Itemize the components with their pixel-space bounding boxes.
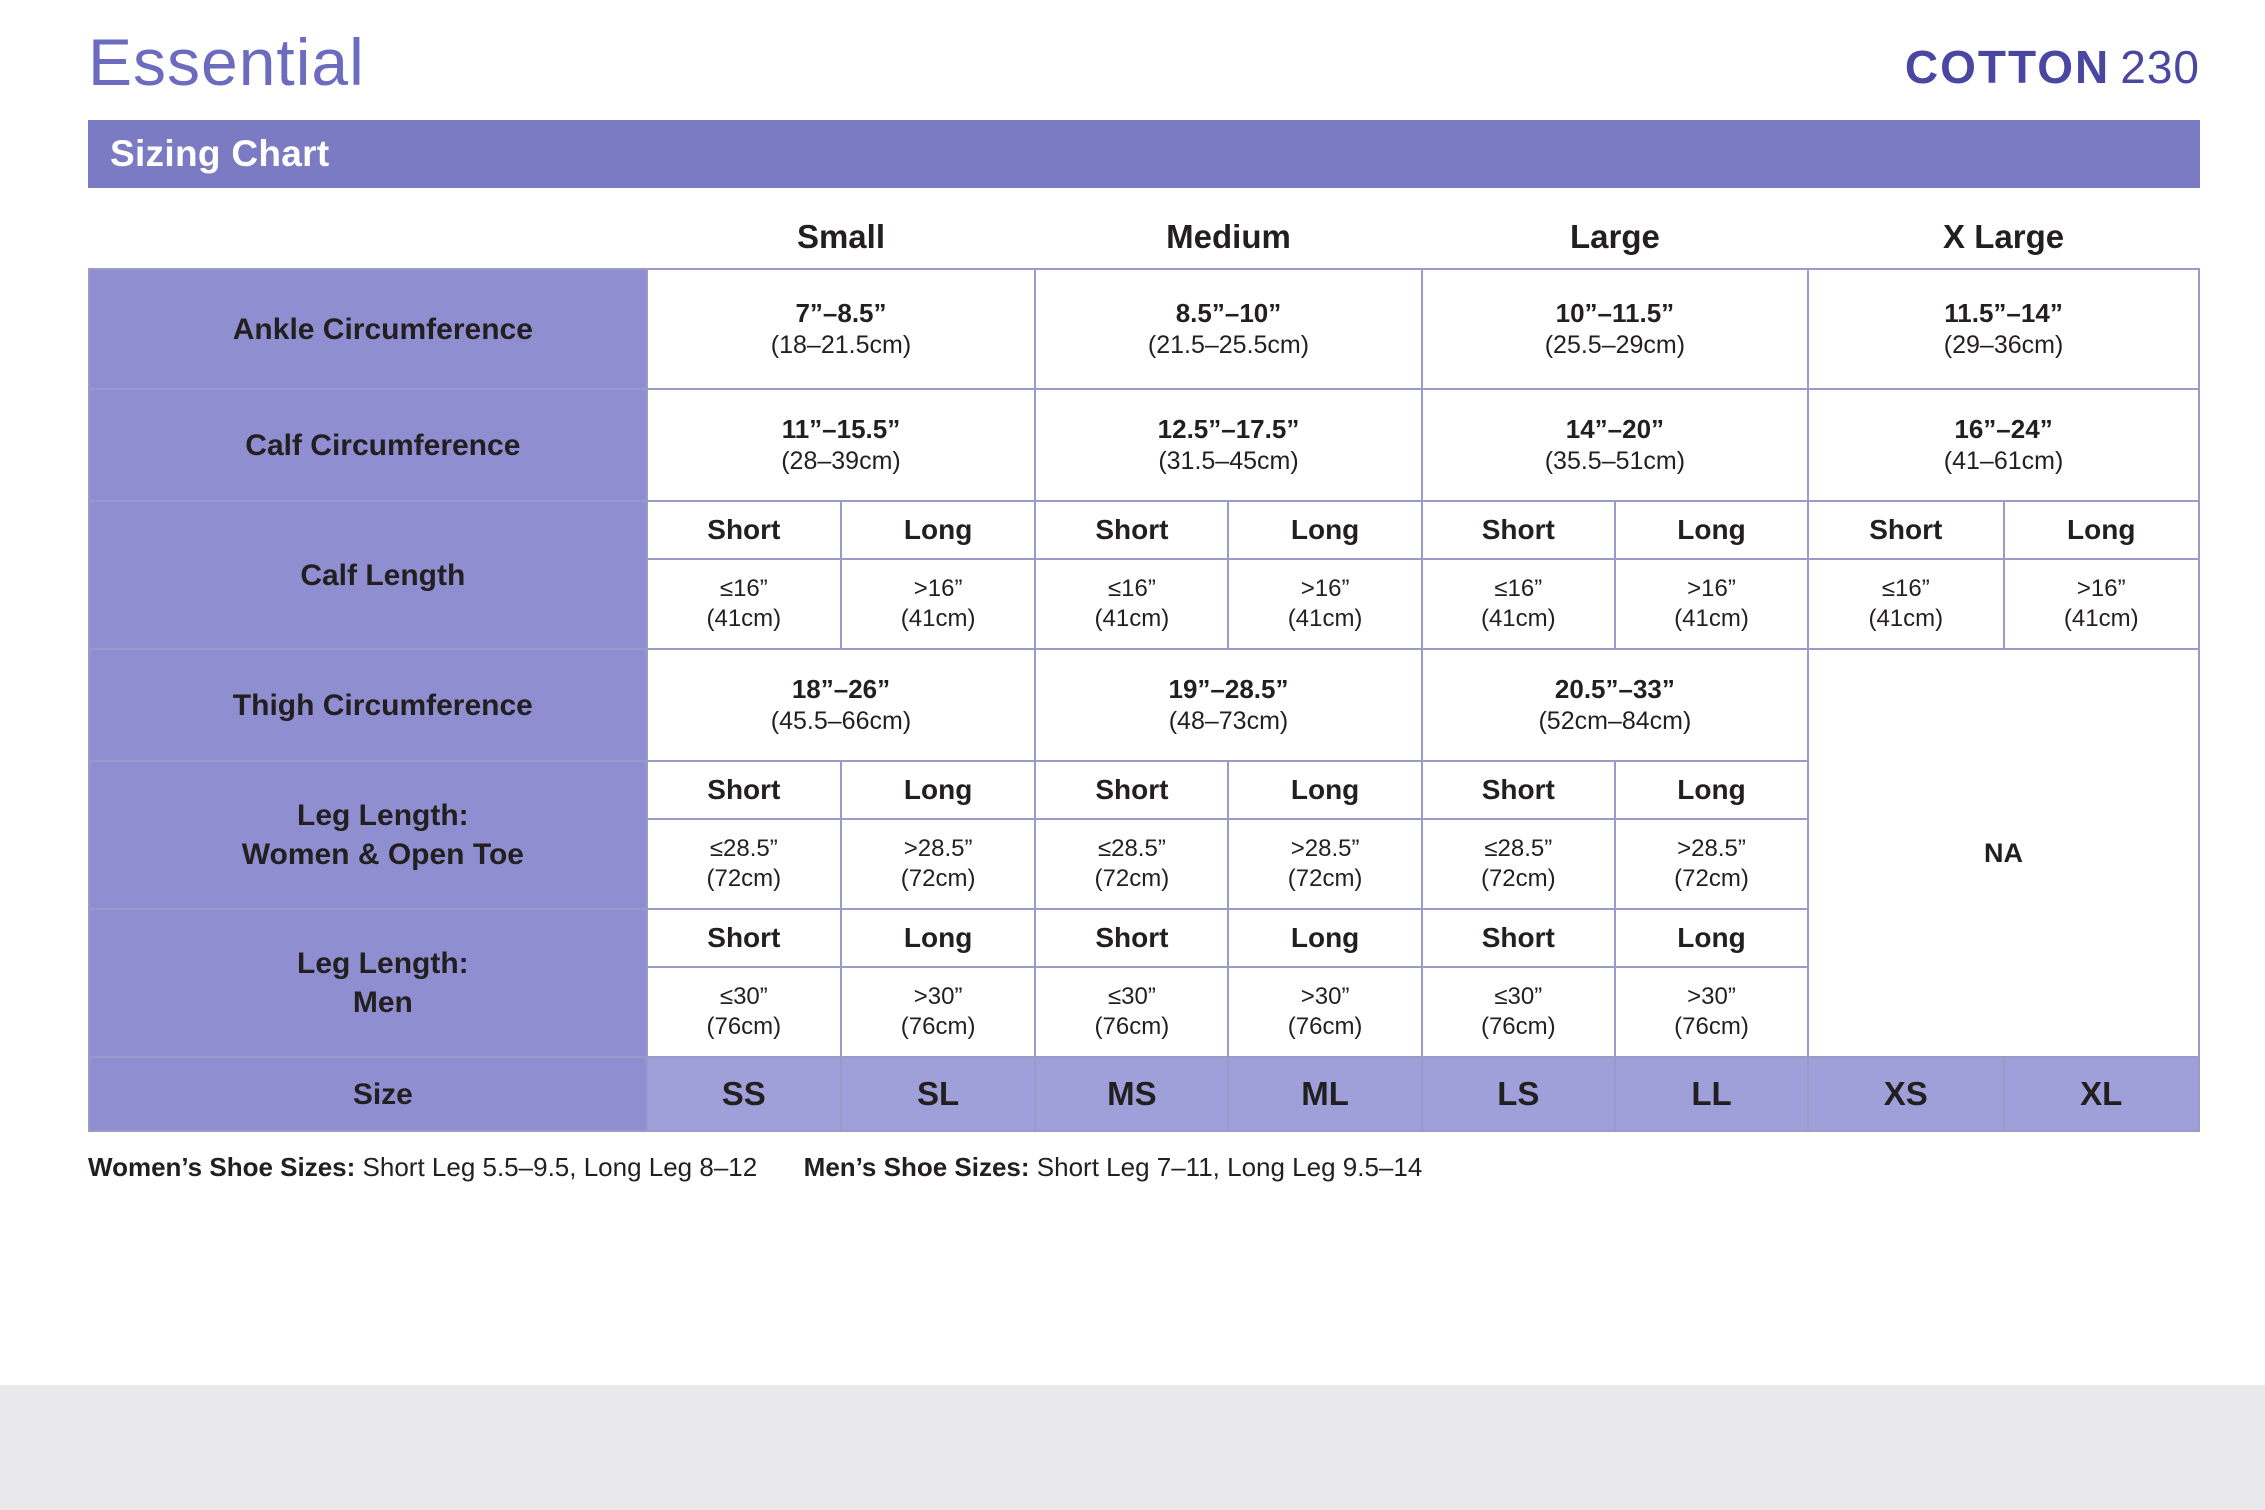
cell-leg-women-2: ≤28.5” (72cm) bbox=[1035, 819, 1228, 909]
sizing-table: Small Medium Large X Large Ankle Circumf… bbox=[88, 206, 2200, 1132]
row-label-thigh: Thigh Circumference bbox=[89, 649, 647, 761]
row-label-line2: Women & Open Toe bbox=[120, 835, 646, 874]
cell-subvalue: (41cm) bbox=[648, 604, 840, 634]
cell-subvalue: (41–61cm) bbox=[1809, 445, 2198, 478]
cell-subvalue: (76cm) bbox=[648, 1012, 840, 1042]
cell-value: 7”–8.5” bbox=[648, 297, 1035, 330]
cell-value: 11”–15.5” bbox=[648, 413, 1035, 446]
cell-value: ≤28.5” bbox=[1036, 834, 1227, 864]
cell-size-ls: LS bbox=[1422, 1057, 1615, 1131]
womens-shoe-label: Women’s Shoe Sizes: bbox=[88, 1152, 355, 1182]
cell-value: 10”–11.5” bbox=[1423, 297, 1807, 330]
womens-shoe-value: Short Leg 5.5–9.5, Long Leg 8–12 bbox=[363, 1152, 758, 1182]
subheader-calf-length-0: Short bbox=[647, 501, 841, 559]
cell-calf-length-5: >16” (41cm) bbox=[1615, 559, 1808, 649]
cell-subvalue: (72cm) bbox=[1423, 864, 1614, 894]
cell-subvalue: (41cm) bbox=[1229, 604, 1420, 634]
subheader-leg-men-1: Long bbox=[841, 909, 1035, 967]
subheader-leg-men-2: Short bbox=[1035, 909, 1228, 967]
cell-subvalue: (41cm) bbox=[842, 604, 1034, 634]
cell-leg-women-0: ≤28.5” (72cm) bbox=[647, 819, 841, 909]
table-header-row: Small Medium Large X Large bbox=[89, 206, 2199, 269]
cell-calfcirc-small: 11”–15.5” (28–39cm) bbox=[647, 389, 1036, 501]
subheader-leg-women-1: Long bbox=[841, 761, 1035, 819]
cell-value: >16” bbox=[1229, 574, 1420, 604]
cell-calfcirc-xlarge: 16”–24” (41–61cm) bbox=[1808, 389, 2199, 501]
col-header-medium: Medium bbox=[1035, 206, 1421, 269]
cell-calf-length-0: ≤16” (41cm) bbox=[647, 559, 841, 649]
cell-subvalue: (72cm) bbox=[1616, 864, 1807, 894]
cell-value: 16”–24” bbox=[1809, 413, 2198, 446]
cell-value: ≤30” bbox=[1423, 982, 1614, 1012]
cell-subvalue: (76cm) bbox=[842, 1012, 1034, 1042]
cell-subvalue: (76cm) bbox=[1423, 1012, 1614, 1042]
cell-subvalue: (41cm) bbox=[1616, 604, 1807, 634]
subheader-calf-length-4: Short bbox=[1422, 501, 1615, 559]
cell-leg-men-0: ≤30” (76cm) bbox=[647, 967, 841, 1057]
cell-value: ≤16” bbox=[1809, 574, 2002, 604]
cell-subvalue: (76cm) bbox=[1036, 1012, 1227, 1042]
cell-subvalue: (18–21.5cm) bbox=[648, 329, 1035, 362]
cell-thigh-medium: 19”–28.5” (48–73cm) bbox=[1035, 649, 1421, 761]
cell-subvalue: (31.5–45cm) bbox=[1036, 445, 1420, 478]
cell-leg-men-4: ≤30” (76cm) bbox=[1422, 967, 1615, 1057]
cell-size-sl: SL bbox=[841, 1057, 1035, 1131]
cell-size-xs: XS bbox=[1808, 1057, 2003, 1131]
cell-value: ≤30” bbox=[648, 982, 840, 1012]
cell-value: 11.5”–14” bbox=[1809, 297, 2198, 330]
subheader-leg-women-2: Short bbox=[1035, 761, 1228, 819]
cell-value: ≤28.5” bbox=[1423, 834, 1614, 864]
cell-value: ≤28.5” bbox=[648, 834, 840, 864]
cell-calf-length-6: ≤16” (41cm) bbox=[1808, 559, 2003, 649]
cell-size-ll: LL bbox=[1615, 1057, 1808, 1131]
table-row: Ankle Circumference 7”–8.5” (18–21.5cm) … bbox=[89, 269, 2199, 389]
subheader-leg-men-5: Long bbox=[1615, 909, 1808, 967]
row-label-leg-length-men: Leg Length: Men bbox=[89, 909, 647, 1057]
cell-leg-women-5: >28.5” (72cm) bbox=[1615, 819, 1808, 909]
cell-calf-length-3: >16” (41cm) bbox=[1228, 559, 1421, 649]
cell-subvalue: (76cm) bbox=[1229, 1012, 1420, 1042]
cell-subvalue: (41cm) bbox=[2005, 604, 2198, 634]
subheader-leg-women-5: Long bbox=[1615, 761, 1808, 819]
brand-cotton: COTTON bbox=[1905, 41, 2110, 93]
subheader-leg-women-3: Long bbox=[1228, 761, 1421, 819]
cell-value: >16” bbox=[2005, 574, 2198, 604]
cell-thigh-large: 20.5”–33” (52cm–84cm) bbox=[1422, 649, 1808, 761]
shoe-size-footnote: Women’s Shoe Sizes: Short Leg 5.5–9.5, L… bbox=[88, 1152, 2200, 1183]
cell-leg-women-1: >28.5” (72cm) bbox=[841, 819, 1035, 909]
table-row: Size SS SL MS ML LS LL XS XL bbox=[89, 1057, 2199, 1131]
cell-subvalue: (72cm) bbox=[1229, 864, 1420, 894]
table-row: Calf Circumference 11”–15.5” (28–39cm) 1… bbox=[89, 389, 2199, 501]
cell-leg-men-5: >30” (76cm) bbox=[1615, 967, 1808, 1057]
cell-calfcirc-large: 14”–20” (35.5–51cm) bbox=[1422, 389, 1808, 501]
cell-subvalue: (52cm–84cm) bbox=[1423, 705, 1807, 738]
subheader-leg-women-0: Short bbox=[647, 761, 841, 819]
cell-na-xlarge: NA bbox=[1808, 649, 2199, 1057]
title-bar: Sizing Chart bbox=[88, 120, 2200, 188]
cell-value: 20.5”–33” bbox=[1423, 673, 1807, 706]
cell-subvalue: (28–39cm) bbox=[648, 445, 1035, 478]
cell-value: 19”–28.5” bbox=[1036, 673, 1420, 706]
subheader-calf-length-1: Long bbox=[841, 501, 1035, 559]
cell-subvalue: (72cm) bbox=[648, 864, 840, 894]
row-label-calf-circumference: Calf Circumference bbox=[89, 389, 647, 501]
col-header-xlarge: X Large bbox=[1808, 206, 2199, 269]
cell-subvalue: (41cm) bbox=[1423, 604, 1614, 634]
cell-value: >16” bbox=[1616, 574, 1807, 604]
cell-value: >28.5” bbox=[842, 834, 1034, 864]
chart-container: Essential COTTON230 Sizing Chart Small M… bbox=[88, 30, 2200, 1183]
subheader-calf-length-7: Long bbox=[2004, 501, 2199, 559]
row-label-line1: Leg Length: bbox=[120, 944, 646, 983]
cell-subvalue: (41cm) bbox=[1809, 604, 2002, 634]
cell-calfcirc-medium: 12.5”–17.5” (31.5–45cm) bbox=[1035, 389, 1421, 501]
cell-size-ss: SS bbox=[647, 1057, 841, 1131]
subheader-leg-women-4: Short bbox=[1422, 761, 1615, 819]
cell-calf-length-2: ≤16” (41cm) bbox=[1035, 559, 1228, 649]
cell-calf-length-4: ≤16” (41cm) bbox=[1422, 559, 1615, 649]
row-label-ankle: Ankle Circumference bbox=[89, 269, 647, 389]
mens-shoe-value: Short Leg 7–11, Long Leg 9.5–14 bbox=[1037, 1152, 1423, 1182]
subheader-leg-men-3: Long bbox=[1228, 909, 1421, 967]
cell-ankle-small: 7”–8.5” (18–21.5cm) bbox=[647, 269, 1036, 389]
cell-size-ml: ML bbox=[1228, 1057, 1421, 1131]
cell-value: >16” bbox=[842, 574, 1034, 604]
cell-ankle-large: 10”–11.5” (25.5–29cm) bbox=[1422, 269, 1808, 389]
col-header-large: Large bbox=[1422, 206, 1808, 269]
cell-value: ≤16” bbox=[648, 574, 840, 604]
cell-calf-length-7: >16” (41cm) bbox=[2004, 559, 2199, 649]
cell-leg-men-3: >30” (76cm) bbox=[1228, 967, 1421, 1057]
cell-calf-length-1: >16” (41cm) bbox=[841, 559, 1035, 649]
subheader-calf-length-5: Long bbox=[1615, 501, 1808, 559]
cell-size-xl: XL bbox=[2004, 1057, 2199, 1131]
page-title: Sizing Chart bbox=[110, 133, 329, 175]
cell-value: >30” bbox=[1616, 982, 1807, 1012]
row-label-leg-length-women: Leg Length: Women & Open Toe bbox=[89, 761, 647, 909]
subheader-calf-length-2: Short bbox=[1035, 501, 1228, 559]
cell-subvalue: (72cm) bbox=[1036, 864, 1227, 894]
cell-thigh-small: 18”–26” (45.5–66cm) bbox=[647, 649, 1036, 761]
cell-value: ≤30” bbox=[1036, 982, 1227, 1012]
cell-value: >30” bbox=[1229, 982, 1420, 1012]
cell-subvalue: (45.5–66cm) bbox=[648, 705, 1035, 738]
cell-subvalue: (72cm) bbox=[842, 864, 1034, 894]
subheader-leg-men-0: Short bbox=[647, 909, 841, 967]
brand-bar: Essential COTTON230 bbox=[88, 30, 2200, 120]
sizing-chart-page: Essential COTTON230 Sizing Chart Small M… bbox=[0, 0, 2265, 1385]
cell-ankle-medium: 8.5”–10” (21.5–25.5cm) bbox=[1035, 269, 1421, 389]
brand-essential: Essential bbox=[88, 24, 365, 100]
table-row: Calf Length Short Long Short Long Short … bbox=[89, 501, 2199, 559]
cell-leg-women-3: >28.5” (72cm) bbox=[1228, 819, 1421, 909]
subheader-leg-men-4: Short bbox=[1422, 909, 1615, 967]
cell-subvalue: (76cm) bbox=[1616, 1012, 1807, 1042]
cell-value: ≤16” bbox=[1423, 574, 1614, 604]
cell-value: >28.5” bbox=[1616, 834, 1807, 864]
cell-subvalue: (48–73cm) bbox=[1036, 705, 1420, 738]
table-row: Thigh Circumference 18”–26” (45.5–66cm) … bbox=[89, 649, 2199, 761]
cell-subvalue: (25.5–29cm) bbox=[1423, 329, 1807, 362]
cell-subvalue: (29–36cm) bbox=[1809, 329, 2198, 362]
cell-ankle-xlarge: 11.5”–14” (29–36cm) bbox=[1808, 269, 2199, 389]
mens-shoe-label: Men’s Shoe Sizes: bbox=[804, 1152, 1030, 1182]
cell-leg-men-1: >30” (76cm) bbox=[841, 967, 1035, 1057]
cell-subvalue: (35.5–51cm) bbox=[1423, 445, 1807, 478]
cell-value: 8.5”–10” bbox=[1036, 297, 1420, 330]
cell-value: >28.5” bbox=[1229, 834, 1420, 864]
cell-subvalue: (41cm) bbox=[1036, 604, 1227, 634]
row-label-size: Size bbox=[89, 1057, 647, 1131]
row-label-line1: Leg Length: bbox=[120, 796, 646, 835]
col-header-small: Small bbox=[647, 206, 1036, 269]
row-label-line2: Men bbox=[120, 983, 646, 1022]
cell-subvalue: (21.5–25.5cm) bbox=[1036, 329, 1420, 362]
brand-230: 230 bbox=[2120, 41, 2200, 93]
row-label-calf-length: Calf Length bbox=[89, 501, 647, 649]
cell-value: 18”–26” bbox=[648, 673, 1035, 706]
cell-value: >30” bbox=[842, 982, 1034, 1012]
subheader-calf-length-6: Short bbox=[1808, 501, 2003, 559]
cell-size-ms: MS bbox=[1035, 1057, 1228, 1131]
cell-value: 12.5”–17.5” bbox=[1036, 413, 1420, 446]
cell-leg-women-4: ≤28.5” (72cm) bbox=[1422, 819, 1615, 909]
cell-value: 14”–20” bbox=[1423, 413, 1807, 446]
cell-leg-men-2: ≤30” (76cm) bbox=[1035, 967, 1228, 1057]
subheader-calf-length-3: Long bbox=[1228, 501, 1421, 559]
corner-cell bbox=[89, 206, 647, 269]
cell-value: ≤16” bbox=[1036, 574, 1227, 604]
brand-cotton-230: COTTON230 bbox=[1905, 40, 2200, 94]
